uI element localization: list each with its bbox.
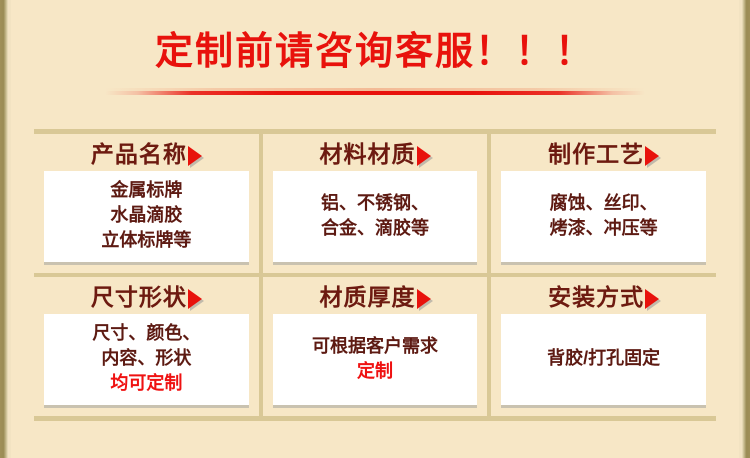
spec-cell-body: 可根据客户需求定制 bbox=[273, 314, 478, 408]
spec-cell-header: 尺寸形状 bbox=[91, 281, 202, 314]
spec-line: 金属标牌 bbox=[110, 178, 182, 203]
spec-cell-body: 尺寸、颜色、内容、形状均可定制 bbox=[44, 314, 249, 408]
banner-title-wrap: 定制前请咨询客服！！！ bbox=[0, 30, 750, 74]
spec-cell-body: 腐蚀、丝印、烤漆、冲压等 bbox=[501, 171, 706, 265]
spec-cell-body: 铝、不锈钢、合金、滴胶等 bbox=[273, 171, 478, 265]
spec-cell-header: 安装方式 bbox=[548, 281, 659, 314]
spec-line: 立体标牌等 bbox=[101, 228, 191, 253]
promo-banner: 定制前请咨询客服！！！ 产品名称金属标牌水晶滴胶立体标牌等材料材质铝、不锈钢、合… bbox=[0, 0, 750, 458]
spec-cell-body: 金属标牌水晶滴胶立体标牌等 bbox=[44, 171, 249, 265]
triangle-right-icon bbox=[645, 146, 659, 166]
spec-cell-header: 产品名称 bbox=[91, 138, 202, 171]
spec-line: 水晶滴胶 bbox=[110, 203, 182, 228]
spec-cell-header-label: 材质厚度 bbox=[320, 281, 416, 314]
spec-cell-header-label: 安装方式 bbox=[548, 281, 644, 314]
spec-cell-header: 材料材质 bbox=[320, 138, 431, 171]
triangle-right-icon bbox=[188, 289, 202, 309]
spec-row: 产品名称金属标牌水晶滴胶立体标牌等材料材质铝、不锈钢、合金、滴胶等制作工艺腐蚀、… bbox=[34, 134, 716, 277]
triangle-right-icon bbox=[188, 146, 202, 166]
spec-cell: 材质厚度可根据客户需求定制 bbox=[259, 277, 488, 416]
spec-cell-header-label: 材料材质 bbox=[320, 138, 416, 171]
spec-line: 背胶/打孔固定 bbox=[547, 346, 660, 371]
title-underline-rule bbox=[105, 91, 645, 95]
banner-title: 定制前请咨询客服！！！ bbox=[155, 30, 595, 74]
spec-cell-body: 背胶/打孔固定 bbox=[501, 314, 706, 408]
spec-line: 可根据客户需求 bbox=[312, 334, 438, 359]
triangle-right-icon bbox=[417, 146, 431, 166]
spec-line: 铝、不锈钢、 bbox=[321, 191, 429, 216]
spec-cell: 制作工艺腐蚀、丝印、烤漆、冲压等 bbox=[487, 134, 716, 273]
spec-cell-header: 制作工艺 bbox=[548, 138, 659, 171]
spec-cell: 尺寸形状尺寸、颜色、内容、形状均可定制 bbox=[34, 277, 259, 416]
spec-cell-header-label: 尺寸形状 bbox=[91, 281, 187, 314]
spec-line: 尺寸、颜色、 bbox=[92, 321, 200, 346]
spec-line-highlight: 定制 bbox=[357, 359, 393, 384]
spec-cell: 产品名称金属标牌水晶滴胶立体标牌等 bbox=[34, 134, 259, 273]
spec-cell-header-label: 产品名称 bbox=[91, 138, 187, 171]
spec-cell-header-label: 制作工艺 bbox=[548, 138, 644, 171]
spec-line: 烤漆、冲压等 bbox=[550, 216, 658, 241]
spec-line: 腐蚀、丝印、 bbox=[550, 191, 658, 216]
triangle-right-icon bbox=[417, 289, 431, 309]
spec-row: 尺寸形状尺寸、颜色、内容、形状均可定制材质厚度可根据客户需求定制安装方式背胶/打… bbox=[34, 277, 716, 416]
spec-line: 合金、滴胶等 bbox=[321, 216, 429, 241]
spec-cell-header: 材质厚度 bbox=[320, 281, 431, 314]
spec-cell: 安装方式背胶/打孔固定 bbox=[487, 277, 716, 416]
spec-cell: 材料材质铝、不锈钢、合金、滴胶等 bbox=[259, 134, 488, 273]
triangle-right-icon bbox=[645, 289, 659, 309]
spec-line: 内容、形状 bbox=[101, 346, 191, 371]
spec-table: 产品名称金属标牌水晶滴胶立体标牌等材料材质铝、不锈钢、合金、滴胶等制作工艺腐蚀、… bbox=[34, 129, 716, 421]
spec-line-highlight: 均可定制 bbox=[110, 371, 182, 396]
